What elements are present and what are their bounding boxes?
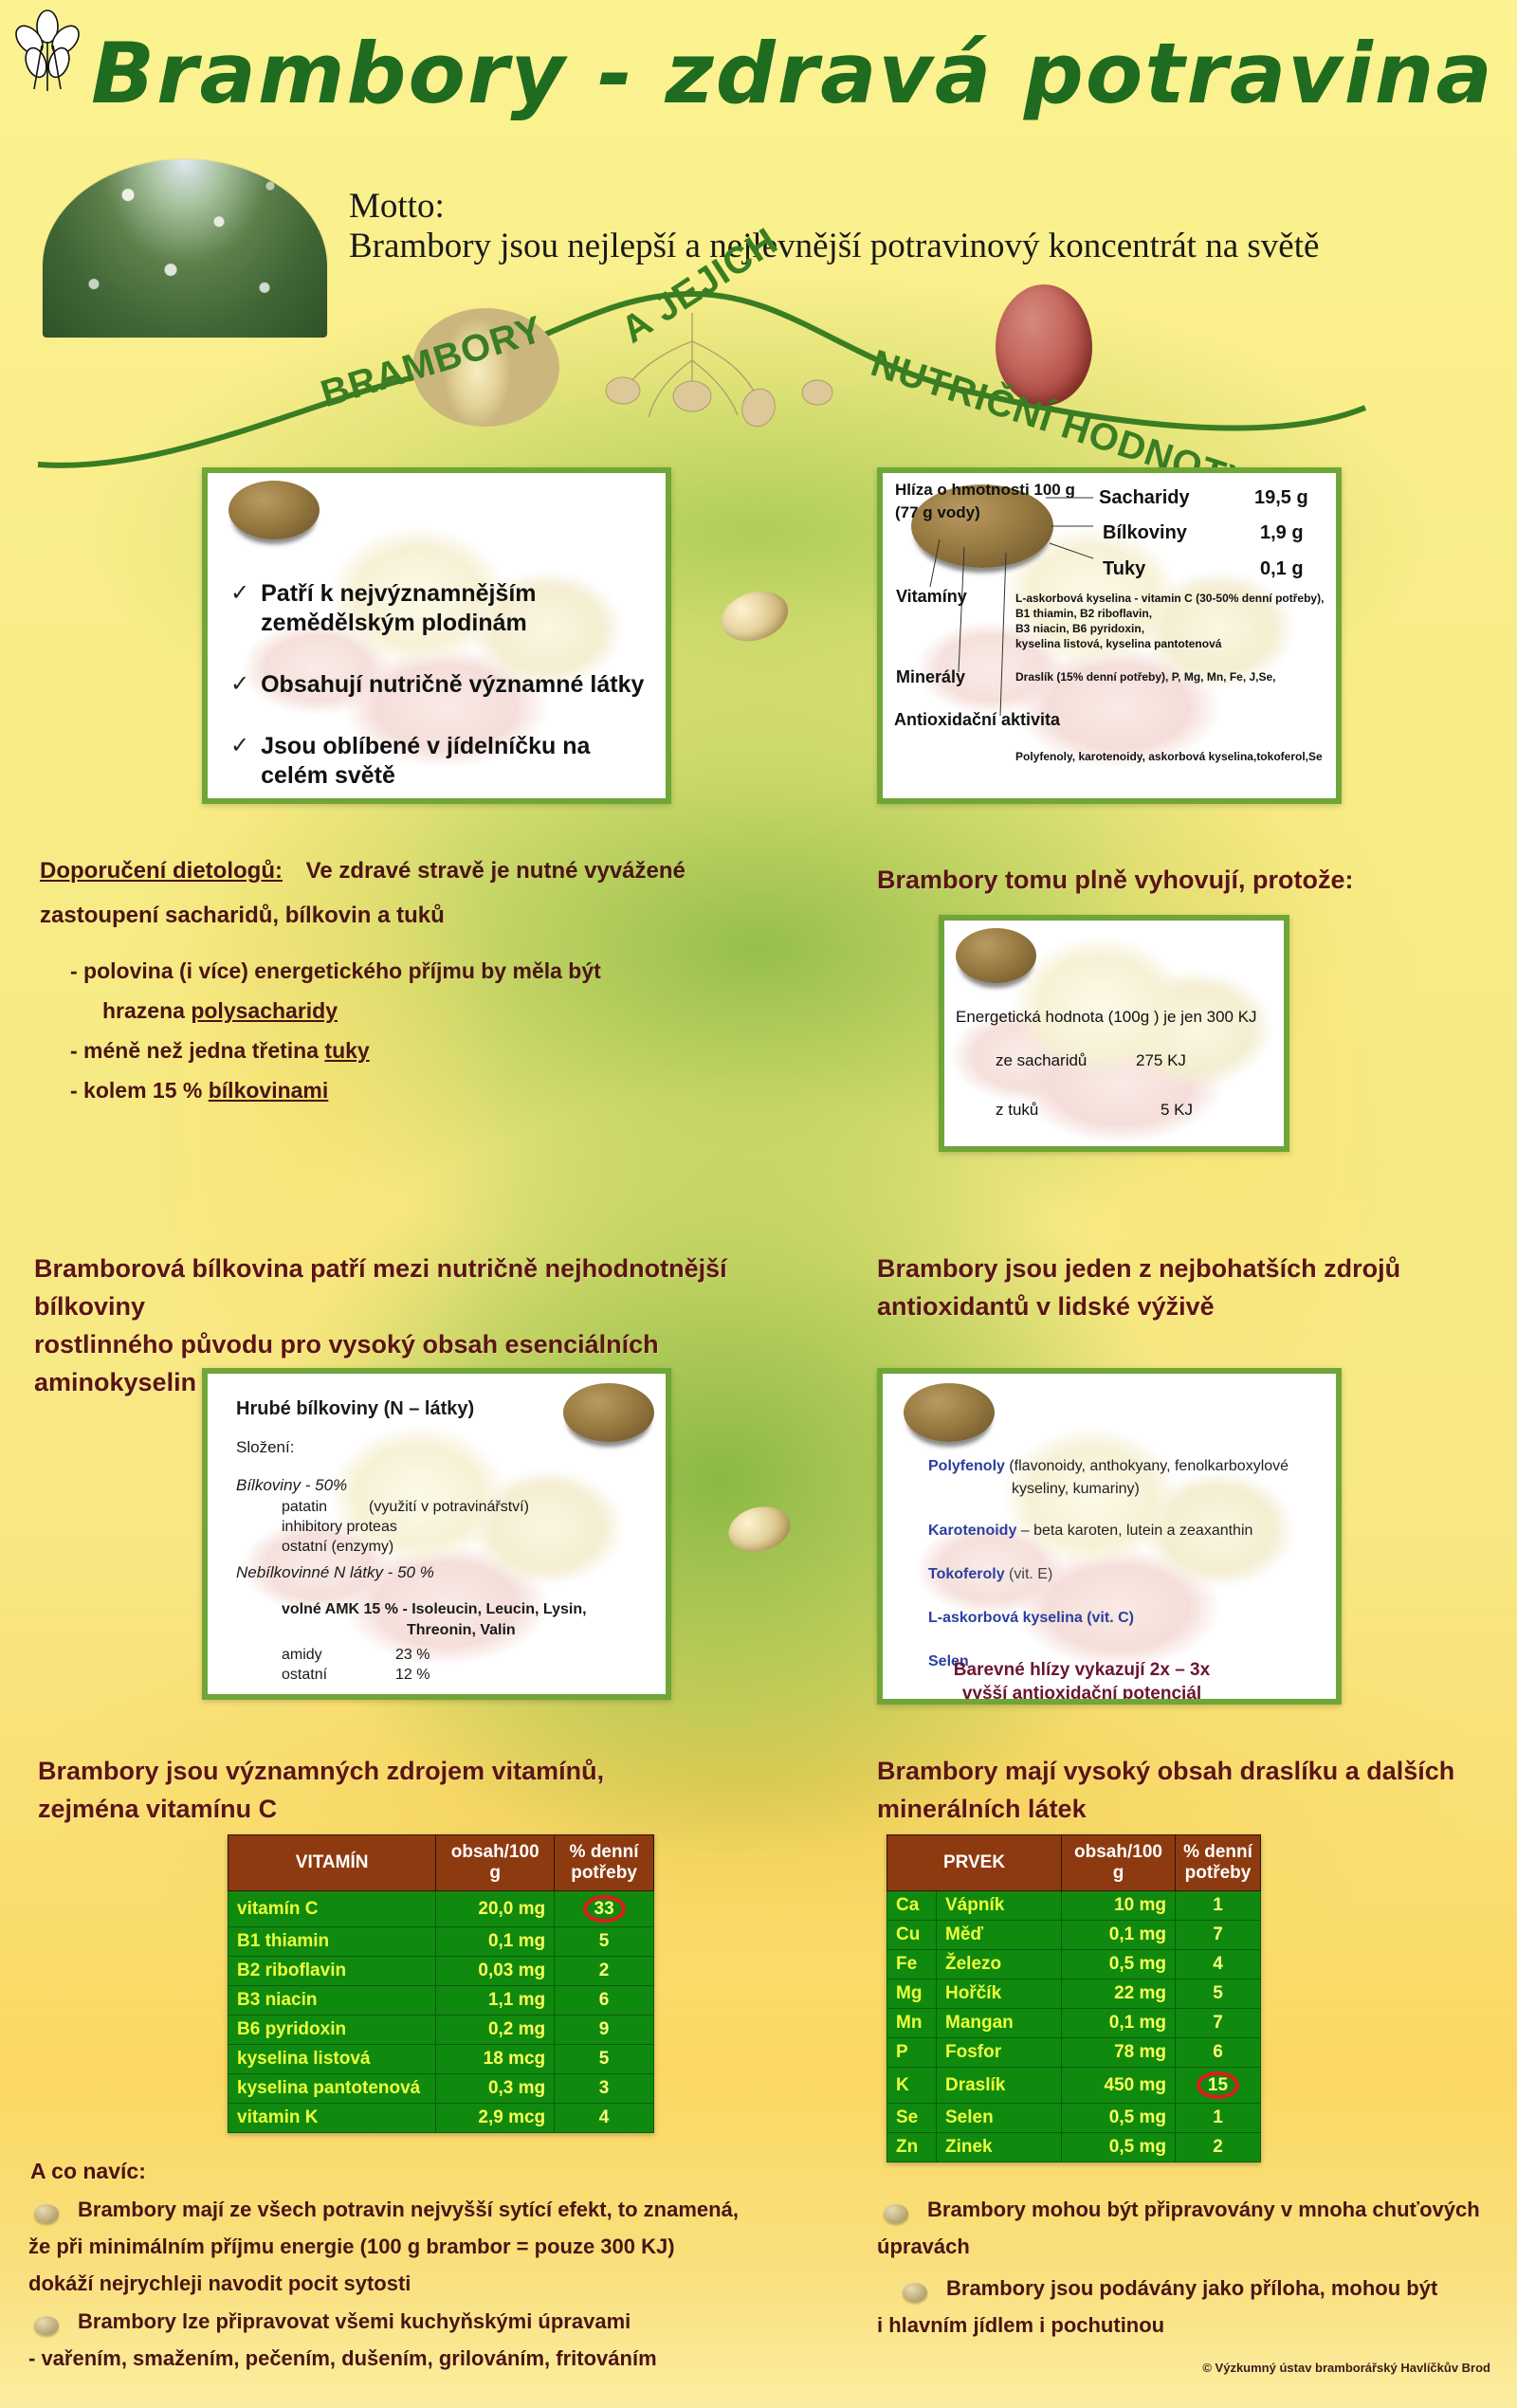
table-row: PFosfor78 mg6 <box>887 2038 1261 2068</box>
table-row: MgHořčík22 mg5 <box>887 1979 1261 2009</box>
antiox-item-0-bold: Polyfenoly <box>928 1458 1005 1474</box>
dietitians-heading: Doporučení dietologů: <box>40 858 283 884</box>
extras-right-0: Brambory mohou být připravovány v mnoha … <box>927 2198 1480 2222</box>
vitamins-detail-1: B1 thiamin, B2 riboflavin, <box>1015 606 1324 621</box>
macro-value-1: 1,9 g <box>1260 522 1304 544</box>
antioxidant-card: Polyfenoly (flavonoidy, anthokyany, feno… <box>877 1368 1342 1705</box>
mineral-row-6-pct: 15 <box>1176 2068 1261 2104</box>
mineral-row-6-name: Draslík <box>937 2068 1062 2104</box>
table-row: kyselina pantotenová0,3 mg3 <box>228 2074 654 2104</box>
intro-bullet-3: Jsou oblíbené v jídelníčku na celém svět… <box>261 732 657 791</box>
energy-heading: Brambory tomu plně vyhovují, protože: <box>877 861 1484 899</box>
table-row: CuMěď0,1 mg7 <box>887 1921 1261 1950</box>
protein-heading-line1: Bramborová bílkovina patří mezi nutričně… <box>34 1250 812 1325</box>
vitamin-row-5-amount: 18 mcg <box>436 2045 555 2074</box>
amk-line1: volné AMK 15 % - Isoleucin, Leucin, Lysi… <box>282 1601 587 1618</box>
dietitians-block: Doporučení dietologů: Ve zdravé stravě j… <box>40 848 798 1110</box>
dietitians-heading-rest: Ve zdravé stravě je nutné vyvážené <box>306 858 685 884</box>
vitamin-col-0: VITAMÍN <box>228 1835 436 1891</box>
vitamin-row-1-name: B1 thiamin <box>228 1927 436 1957</box>
macro-name-2: Tuky <box>1103 558 1145 580</box>
extras-left-3: Brambory lze připravovat všemi kuchyňský… <box>78 2309 631 2334</box>
antiox-item-4-rest: (vit. C) <box>1083 1610 1134 1626</box>
mineral-row-0-pct: 1 <box>1176 1891 1261 1921</box>
protein-item-1-name: inhibitory proteas <box>282 1517 661 1537</box>
mineral-row-1-amount: 0,1 mg <box>1062 1921 1176 1950</box>
mineral-row-4-pct: 7 <box>1176 2009 1261 2038</box>
check-icon: ✓ <box>230 732 249 791</box>
mineral-heading-line1: Brambory mají vysoký obsah draslíku a da… <box>877 1752 1484 1790</box>
table-row: ZnZinek0,5 mg2 <box>887 2133 1261 2162</box>
amk-row-1-name: ostatní <box>282 1665 395 1685</box>
vitamin-row-3-name: B3 niacin <box>228 1986 436 2016</box>
mineral-row-5-symbol: P <box>887 2038 937 2068</box>
intro-card: ✓ Patří k nejvýznamnějším zemědělským pl… <box>202 467 671 804</box>
energy-row-0-label: ze sacharidů <box>996 1051 1136 1070</box>
mineral-row-2-amount: 0,5 mg <box>1062 1950 1176 1979</box>
energy-row-2-value: 20 KJ <box>1136 1150 1190 1152</box>
check-icon: ✓ <box>230 670 249 700</box>
extras-left-1: že při minimálním příjmu energie (100 g … <box>28 2235 675 2259</box>
antiox-item-2-rest: – beta karoten, lutein a zeaxanthin <box>1016 1523 1252 1539</box>
vitamin-heading: Brambory jsou významných zdrojem vitamín… <box>38 1752 702 1828</box>
vitamin-row-7-amount: 2,9 mcg <box>436 2104 555 2133</box>
amk-row-1-value: 12 % <box>395 1665 430 1685</box>
proteins-label: Bílkoviny - 50% <box>236 1476 347 1495</box>
antiox-item-3-rest: (vit. E) <box>1005 1566 1053 1582</box>
mineral-row-5-pct: 6 <box>1176 2038 1261 2068</box>
mineral-row-7-symbol: Se <box>887 2104 937 2133</box>
extras-heading: A co navíc: <box>30 2159 146 2184</box>
macro-value-2: 0,1 g <box>1260 558 1304 580</box>
vitamin-row-4-amount: 0,2 mg <box>436 2016 555 2045</box>
protein-item-0-note: (využití v potravinářství) <box>369 1497 529 1517</box>
vitamins-detail-3: kyselina listová, kyselina pantotenová <box>1015 636 1324 651</box>
table-row: MnMangan0,1 mg7 <box>887 2009 1261 2038</box>
minerals-detail: Draslík (15% denní potřeby), P, Mg, Mn, … <box>1015 670 1276 684</box>
dietitians-bullet-0-underlined: polysacharidy <box>191 998 338 1023</box>
mineral-col-0: PRVEK <box>887 1835 1062 1891</box>
mineral-row-0-symbol: Ca <box>887 1891 937 1921</box>
antiox-item-0-rest: (flavonoidy, anthokyany, fenolkarboxylov… <box>1005 1458 1289 1474</box>
vitamin-row-7-name: vitamin K <box>228 2104 436 2133</box>
table-row: B6 pyridoxin0,2 mg9 <box>228 2016 654 2045</box>
energy-main-line: Energetická hodnota (100g ) je jen 300 K… <box>956 1008 1257 1027</box>
vitamin-row-1-pct: 5 <box>555 1927 654 1957</box>
antioxidant-heading-line1: Brambory jsou jeden z nejbohatších zdroj… <box>877 1250 1484 1287</box>
mineral-row-7-amount: 0,5 mg <box>1062 2104 1176 2133</box>
dietitians-bullet-0: - polovina (i více) energetického příjmu… <box>70 958 601 983</box>
mineral-row-1-name: Měď <box>937 1921 1062 1950</box>
vitamin-row-0-name: vitamín C <box>228 1891 436 1927</box>
intro-bullet-1: Patří k nejvýznamnějším zemědělským plod… <box>261 579 657 638</box>
table-row: CaVápník10 mg1 <box>887 1891 1261 1921</box>
extras-right-2: Brambory jsou podávány jako příloha, moh… <box>946 2276 1437 2301</box>
mineral-row-3-symbol: Mg <box>887 1979 937 2009</box>
vitamin-col-1: obsah/100 g <box>436 1835 555 1891</box>
antiox-footer-line2: vyšší antioxidační potenciál <box>940 1682 1224 1705</box>
energy-row-1-value: 5 KJ <box>1136 1101 1193 1120</box>
tuber-thumbnail-icon <box>904 1383 995 1442</box>
mineral-row-6-amount: 450 mg <box>1062 2068 1176 2104</box>
potato-bullet-icon <box>903 2283 927 2302</box>
mineral-row-3-name: Hořčík <box>937 1979 1062 2009</box>
tuber-thumbnail-icon <box>563 1383 654 1442</box>
table-header-row: VITAMÍN obsah/100 g % denní potřeby <box>228 1835 654 1891</box>
antioxidant-heading: Brambory jsou jeden z nejbohatších zdroj… <box>877 1250 1484 1325</box>
table-row: SeSelen0,5 mg1 <box>887 2104 1261 2133</box>
highlight-ring: 15 <box>1197 2071 1239 2099</box>
vitamin-row-0-pct: 33 <box>555 1891 654 1927</box>
vitamin-row-3-amount: 1,1 mg <box>436 1986 555 2016</box>
vitamins-detail-0: L-askorbová kyselina - vitamin C (30-50%… <box>1015 591 1324 606</box>
protein-item-2-name: ostatní (enzymy) <box>282 1537 661 1557</box>
antioxidant-detail: Polyfenoly, karotenoidy, askorbová kysel… <box>1015 750 1323 763</box>
table-row: vitamín C20,0 mg33 <box>228 1891 654 1927</box>
highlight-ring: 33 <box>583 1895 626 1923</box>
table-row: kyselina listová18 mcg5 <box>228 2045 654 2074</box>
tuber-thumbnail-icon <box>228 481 320 539</box>
vitamins-detail-2: B3 niacin, B6 pyridoxin, <box>1015 621 1324 636</box>
dietitians-bullet-2-underlined: bílkovinami <box>209 1078 329 1103</box>
energy-row-1-label: z tuků <box>996 1101 1136 1120</box>
vitamin-col-2: % denní potřeby <box>555 1835 654 1891</box>
composition-label: Složení: <box>236 1438 294 1457</box>
mineral-row-4-name: Mangan <box>937 2009 1062 2038</box>
vitamin-row-3-pct: 6 <box>555 1986 654 2016</box>
vitamin-row-0-amount: 20,0 mg <box>436 1891 555 1927</box>
vitamin-row-4-name: B6 pyridoxin <box>228 2016 436 2045</box>
check-icon: ✓ <box>230 579 249 638</box>
dietitians-bullet-0-indent: hrazena <box>102 998 185 1023</box>
vitamin-row-2-pct: 2 <box>555 1957 654 1986</box>
protein-card-title: Hrubé bílkoviny (N – látky) <box>236 1398 474 1420</box>
vitamins-label: Vitamíny <box>896 587 967 607</box>
mineral-heading: Brambory mají vysoký obsah draslíku a da… <box>877 1752 1484 1828</box>
vitamin-heading-line2: zejména vitamínu C <box>38 1790 702 1828</box>
antioxidant-heading-line2: antioxidantů v lidské výživě <box>877 1287 1484 1325</box>
mineral-row-2-name: Železo <box>937 1950 1062 1979</box>
table-row: FeŽelezo0,5 mg4 <box>887 1950 1261 1979</box>
vitamin-row-2-amount: 0,03 mg <box>436 1957 555 1986</box>
amk-row-0-name: amidy <box>282 1645 395 1665</box>
vitamin-row-5-name: kyselina listová <box>228 2045 436 2074</box>
page-title: Brambory - zdravá potravina <box>91 25 1418 122</box>
mineral-col-2: % denní potřeby <box>1176 1835 1261 1891</box>
vitamin-row-1-amount: 0,1 mg <box>436 1927 555 1957</box>
macro-name-1: Bílkoviny <box>1103 522 1187 544</box>
minerals-label: Minerály <box>896 667 965 687</box>
mineral-col-1: obsah/100 g <box>1062 1835 1176 1891</box>
mineral-row-5-name: Fosfor <box>937 2038 1062 2068</box>
mineral-row-7-pct: 1 <box>1176 2104 1261 2133</box>
mineral-row-1-symbol: Cu <box>887 1921 937 1950</box>
energy-row-0-value: 275 KJ <box>1136 1051 1186 1070</box>
table-row: KDraslík450 mg15 <box>887 2068 1261 2104</box>
antiox-item-1-rest: kyseliny, kumariny) <box>1012 1481 1140 1497</box>
potato-bullet-icon <box>34 2204 59 2223</box>
mineral-row-2-symbol: Fe <box>887 1950 937 1979</box>
nutrition-card: Hlíza o hmotnosti 100 g (77 g vody) Sach… <box>877 467 1342 804</box>
dietitians-bullet-2: - kolem 15 % <box>70 1078 209 1103</box>
potato-bullet-icon <box>884 2204 908 2223</box>
copyright-notice: © Výzkumný ústav bramborářský Havlíčkův … <box>1202 2361 1490 2375</box>
antiox-item-2-bold: Karotenoidy <box>928 1523 1016 1539</box>
antioxidant-label: Antioxidační aktivita <box>894 710 1060 730</box>
motto-label: Motto: <box>349 186 445 227</box>
dietitians-line2: zastoupení sacharidů, bílkovin a tuků <box>40 893 798 938</box>
potato-flower-logo-icon <box>13 8 82 95</box>
mineral-row-8-name: Zinek <box>937 2133 1062 2162</box>
vitamin-row-6-amount: 0,3 mg <box>436 2074 555 2104</box>
vitamin-row-4-pct: 9 <box>555 2016 654 2045</box>
mineral-row-8-amount: 0,5 mg <box>1062 2133 1176 2162</box>
extras-right-1: úpravách <box>877 2235 970 2259</box>
dietitians-bullet-1-underlined: tuky <box>324 1038 369 1063</box>
mineral-row-5-amount: 78 mg <box>1062 2038 1176 2068</box>
extras-right-3: i hlavním jídlem i pochutinou <box>877 2313 1164 2338</box>
macro-value-0: 19,5 g <box>1254 487 1308 509</box>
table-row: B1 thiamin0,1 mg5 <box>228 1927 654 1957</box>
tuber-thumbnail-icon <box>956 928 1036 983</box>
vitamin-heading-line1: Brambory jsou významných zdrojem vitamín… <box>38 1752 702 1790</box>
dietitians-bullet-1: - méně než jedna třetina <box>70 1038 324 1063</box>
energy-card: Energetická hodnota (100g ) je jen 300 K… <box>939 915 1289 1152</box>
motto-text: Brambory jsou nejlepší a nejlevnější pot… <box>349 226 1319 266</box>
mineral-row-6-symbol: K <box>887 2068 937 2104</box>
vitamin-row-2-name: B2 riboflavin <box>228 1957 436 1986</box>
energy-row-2-label: z bílkovin <box>996 1150 1136 1152</box>
antiox-item-3-bold: Tokoferoly <box>928 1566 1005 1582</box>
mineral-row-3-pct: 5 <box>1176 1979 1261 2009</box>
mineral-row-7-name: Selen <box>937 2104 1062 2133</box>
extras-left-2: dokáží nejrychleji navodit pocit sytosti <box>28 2271 411 2296</box>
macro-name-0: Sacharidy <box>1099 487 1190 509</box>
amk-line2: Threonin, Valin <box>407 1622 516 1639</box>
mineral-row-8-pct: 2 <box>1176 2133 1261 2162</box>
mineral-row-0-name: Vápník <box>937 1891 1062 1921</box>
table-row: B2 riboflavin0,03 mg2 <box>228 1957 654 1986</box>
intro-bullet-2: Obsahují nutričně významné látky <box>261 670 644 700</box>
mineral-row-0-amount: 10 mg <box>1062 1891 1176 1921</box>
mineral-row-3-amount: 22 mg <box>1062 1979 1176 2009</box>
vitamin-row-6-pct: 3 <box>555 2074 654 2104</box>
table-header-row: PRVEK obsah/100 g % denní potřeby <box>887 1835 1261 1891</box>
vitamin-row-6-name: kyselina pantotenová <box>228 2074 436 2104</box>
vitamin-row-5-pct: 5 <box>555 2045 654 2074</box>
table-row: B3 niacin1,1 mg6 <box>228 1986 654 2016</box>
protein-card: Hrubé bílkoviny (N – látky) Složení: Bíl… <box>202 1368 671 1700</box>
antiox-item-4-bold: L-askorbová kyselina <box>928 1610 1083 1626</box>
vitamin-table: VITAMÍN obsah/100 g % denní potřeby vita… <box>228 1834 654 2133</box>
mineral-row-8-symbol: Zn <box>887 2133 937 2162</box>
amk-row-0-value: 23 % <box>395 1645 430 1665</box>
mineral-row-4-amount: 0,1 mg <box>1062 2009 1176 2038</box>
mineral-table: PRVEK obsah/100 g % denní potřeby CaVápn… <box>886 1834 1261 2162</box>
nonprotein-label: Nebílkovinné N látky - 50 % <box>236 1563 434 1582</box>
extras-left-0: Brambory mají ze všech potravin nejvyšší… <box>78 2198 739 2222</box>
mineral-row-4-symbol: Mn <box>887 2009 937 2038</box>
mineral-row-2-pct: 4 <box>1176 1950 1261 1979</box>
table-row: vitamin K2,9 mcg4 <box>228 2104 654 2133</box>
vitamin-row-7-pct: 4 <box>555 2104 654 2133</box>
protein-item-0-name: patatin <box>282 1497 369 1517</box>
antiox-footer-line1: Barevné hlízy vykazují 2x – 3x <box>940 1658 1224 1682</box>
potato-bullet-icon <box>34 2316 59 2335</box>
mineral-row-1-pct: 7 <box>1176 1921 1261 1950</box>
extras-left-4: - vařením, smažením, pečením, dušením, g… <box>28 2346 657 2371</box>
mineral-heading-line2: minerálních látek <box>877 1790 1484 1828</box>
